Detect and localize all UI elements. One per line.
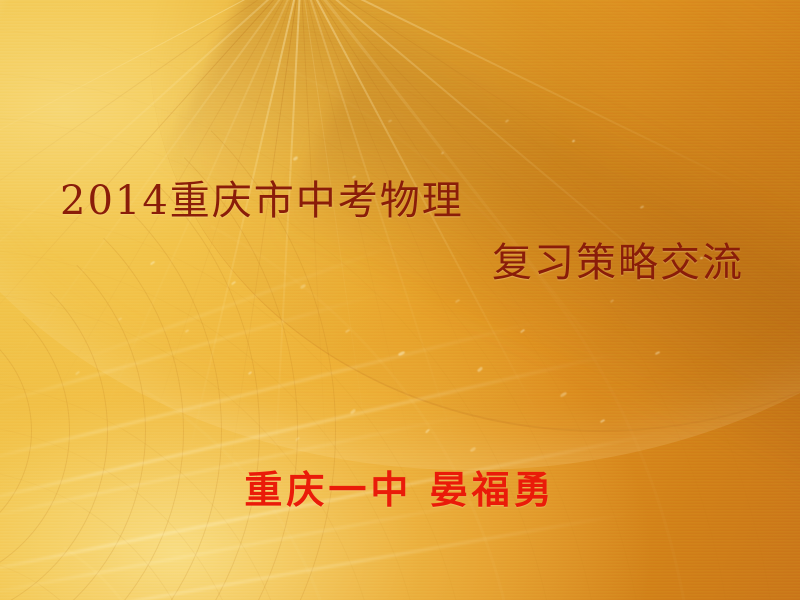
background-speckle [350, 408, 356, 414]
swirl-ring [0, 272, 70, 590]
background-speckle [248, 371, 252, 375]
background-speckle [185, 329, 189, 333]
background-speckle [425, 429, 430, 434]
background-speckle [441, 151, 445, 155]
background-speckle [610, 299, 614, 303]
slide-subtitle-presenter: 重庆一中 晏福勇 [0, 464, 800, 516]
presentation-slide: 2014重庆市中考物理 复习策略交流 重庆一中 晏福勇 [0, 0, 800, 600]
background-speckle [118, 317, 122, 321]
background-speckle [560, 391, 568, 397]
background-speckle [398, 351, 406, 357]
background-speckle [505, 119, 509, 123]
background-speckle [388, 119, 392, 123]
swirl-ring [0, 301, 376, 600]
background-speckle [655, 351, 660, 355]
light-streak [0, 317, 551, 470]
light-streak [0, 289, 392, 410]
slide-title-line-1: 2014重庆市中考物理 [0, 170, 800, 232]
background-speckle [520, 329, 525, 334]
background-speckle [477, 366, 483, 372]
slide-title-block: 2014重庆市中考物理 复习策略交流 [0, 170, 800, 294]
background-speckle [295, 437, 300, 442]
background-speckle [470, 447, 477, 453]
background-speckle [345, 329, 350, 333]
background-speckle [600, 419, 605, 423]
background-speckle [75, 371, 80, 376]
light-streak [0, 511, 635, 600]
swirl-ring [0, 82, 260, 600]
swirl-ring [0, 244, 437, 600]
swirl-ring [0, 72, 605, 600]
swirl-ring [0, 44, 298, 600]
slide-title-line-2: 复习策略交流 [0, 232, 800, 294]
swirl-ring [0, 521, 156, 600]
background-speckle [293, 156, 299, 161]
background-speckle [572, 139, 576, 142]
background-speckle [455, 299, 460, 303]
